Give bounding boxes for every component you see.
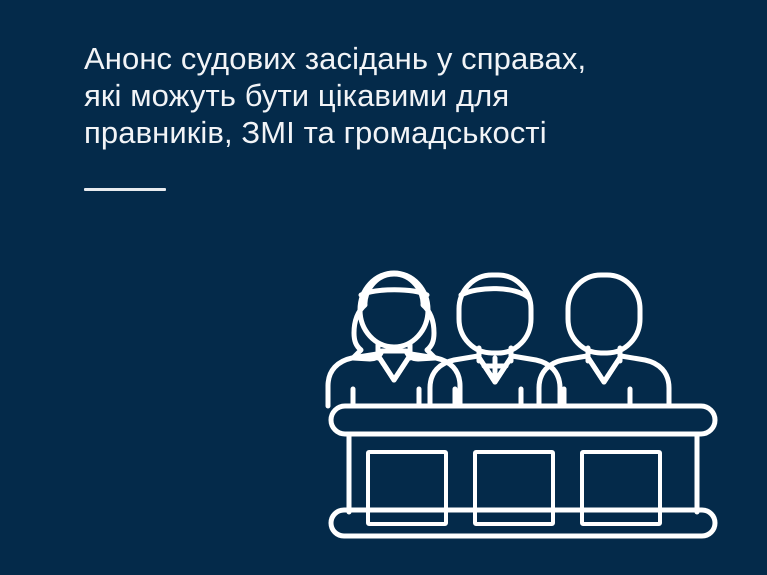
hairline-center-figure — [461, 289, 529, 298]
headline-line-3: правників, ЗМІ та громадськості — [84, 114, 684, 151]
collar-left-figure — [377, 354, 411, 380]
jury-bench-illustration — [318, 258, 728, 543]
headline-line-2: які можуть бути цікавими для — [84, 77, 684, 114]
headline-divider — [84, 188, 166, 191]
bench-top-rail — [331, 406, 715, 434]
jury-bench — [331, 406, 715, 536]
head-left-figure — [360, 273, 428, 347]
figure-left — [328, 273, 460, 406]
jury-bench-svg — [318, 258, 728, 543]
bench-panel-1 — [368, 452, 446, 524]
page-title: Анонс судових засідань у справах, які мо… — [84, 40, 684, 151]
bench-panel-3 — [582, 452, 660, 524]
head-right-figure — [568, 275, 640, 353]
announcement-card: Анонс судових засідань у справах, які мо… — [0, 0, 767, 575]
bench-panel-2 — [475, 452, 553, 524]
collar-right-figure — [587, 356, 621, 382]
tie-center-figure — [484, 358, 506, 378]
headline-line-1: Анонс судових засідань у справах, — [84, 40, 684, 77]
fringe-left-figure — [361, 290, 427, 295]
